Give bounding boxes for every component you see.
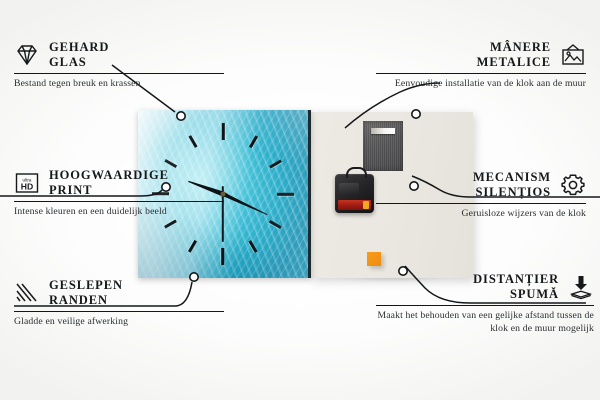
mechanism-detail xyxy=(339,183,359,195)
feature-mecanism-silentios: MECANISM SILENȚIOS Geruisloze wijzers va… xyxy=(376,170,586,221)
feature-title-line2: METALICE xyxy=(477,55,551,69)
feature-description: Gladde en veilige afwerking xyxy=(14,316,224,329)
clock-mechanism-box xyxy=(335,174,374,213)
minute-hand xyxy=(221,194,273,221)
feature-manere-metalice: MÂNERE METALICE Eenvoudige installatie v… xyxy=(376,40,586,91)
feature-title-line1: GESLEPEN xyxy=(49,278,123,292)
battery xyxy=(338,200,371,210)
feature-title-line1: DISTANȚIER xyxy=(473,272,559,286)
feature-title-line2: SPUMĂ xyxy=(510,287,559,301)
feature-description: Eenvoudige installatie van de klok aan d… xyxy=(376,78,586,91)
feature-rule xyxy=(376,73,586,74)
feature-geslepen-randen: GESLEPEN RANDEN Gladde en veilige afwerk… xyxy=(14,278,224,329)
feature-rule xyxy=(14,201,224,202)
feature-title-line2: SILENȚIOS xyxy=(476,185,552,199)
ultra-hd-icon: ultra HD xyxy=(14,170,40,196)
gear-icon xyxy=(560,172,586,198)
hanging-loop xyxy=(346,167,367,178)
feature-title-line2: RANDEN xyxy=(49,293,108,307)
feature-title-line2: PRINT xyxy=(49,183,92,197)
picture-frame-hook-icon xyxy=(560,42,586,68)
foam-spacer xyxy=(367,252,381,266)
feature-hoogwaardige-print: ultra HD HOOGWAARDIGE PRINT Intense kleu… xyxy=(14,168,224,219)
metal-hanger-plate xyxy=(363,121,403,171)
diagonal-lines-icon xyxy=(14,280,40,306)
feature-description: Geruisloze wijzers van de klok xyxy=(376,208,586,221)
feature-description: Bestand tegen breuk en krassen xyxy=(14,78,224,91)
feature-rule xyxy=(376,305,594,306)
feature-title-line1: HOOGWAARDIGE xyxy=(49,168,169,182)
feature-title-line2: GLAS xyxy=(49,55,87,69)
diamond-icon xyxy=(14,42,40,68)
feature-description: Maakt het behouden van een gelijke afsta… xyxy=(376,310,594,336)
feature-title-line1: GEHARD xyxy=(49,40,109,54)
svg-text:HD: HD xyxy=(21,181,33,191)
hanger-slot xyxy=(371,128,395,134)
feature-rule xyxy=(14,311,224,312)
feature-gehard-glas: GEHARD GLAS Bestand tegen breuk en krass… xyxy=(14,40,224,91)
feature-title-line1: MÂNERE xyxy=(490,40,551,54)
infographic-canvas: GEHARD GLAS Bestand tegen breuk en krass… xyxy=(0,0,600,400)
feature-title-line1: MECANISM xyxy=(473,170,551,184)
feature-rule xyxy=(376,203,586,204)
feature-description: Intense kleuren en een duidelijk beeld xyxy=(14,206,224,219)
feature-distantier-spuma: DISTANȚIER SPUMĂ Maakt het behouden van … xyxy=(376,272,594,336)
arrow-down-stack-icon xyxy=(568,274,594,300)
feature-rule xyxy=(14,73,224,74)
